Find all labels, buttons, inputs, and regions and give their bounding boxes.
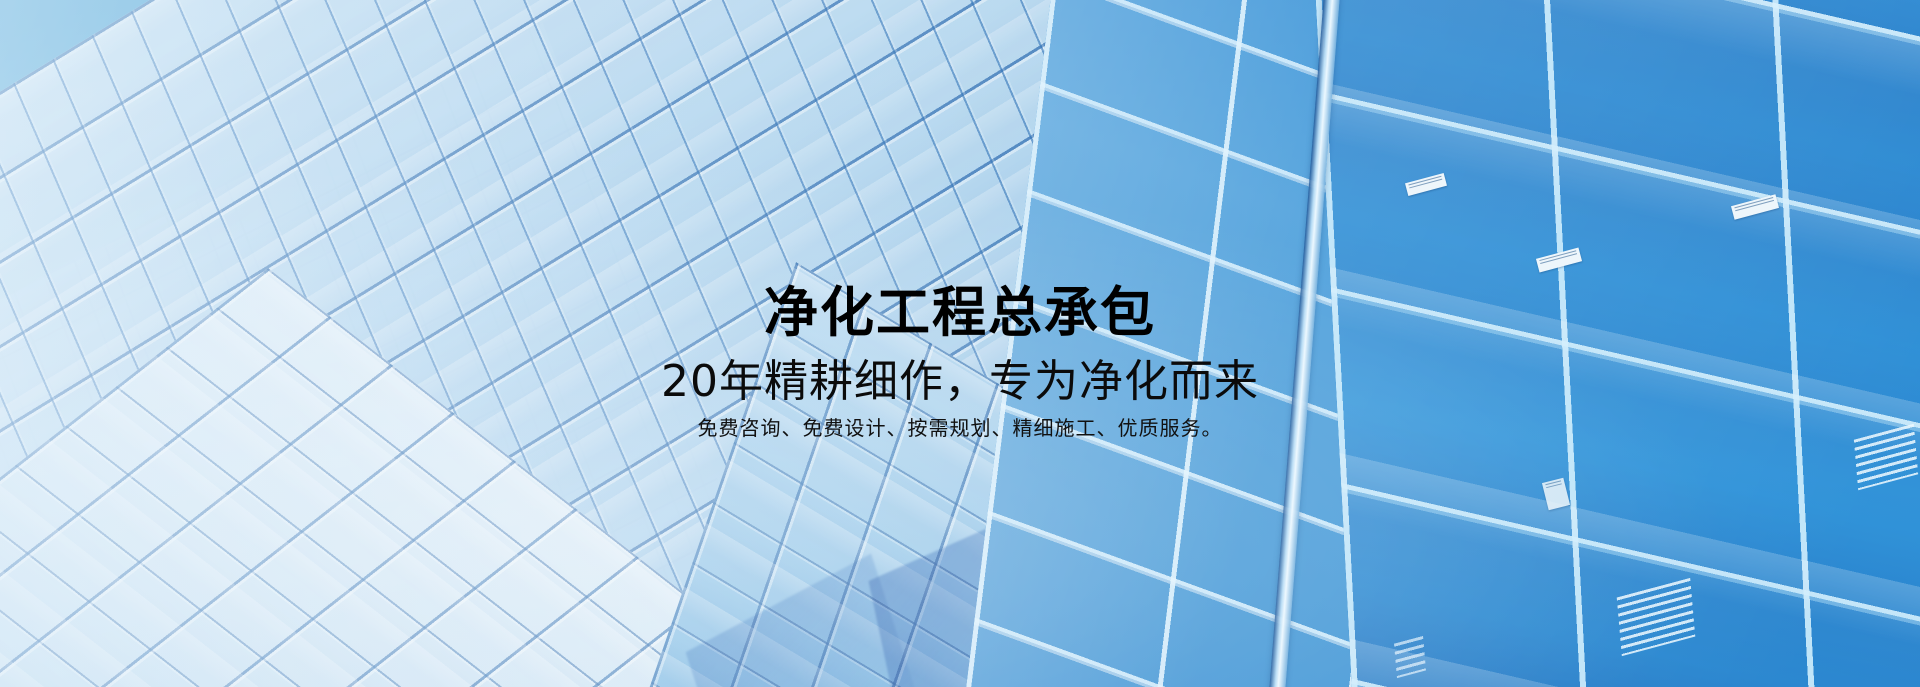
right-tower-deep-facade [1300, 0, 1920, 687]
hero-banner: 净化工程总承包 20年精耕细作，专为净化而来 免费咨询、免费设计、按需规划、精细… [0, 0, 1920, 687]
glass-sheen [1300, 0, 1920, 687]
